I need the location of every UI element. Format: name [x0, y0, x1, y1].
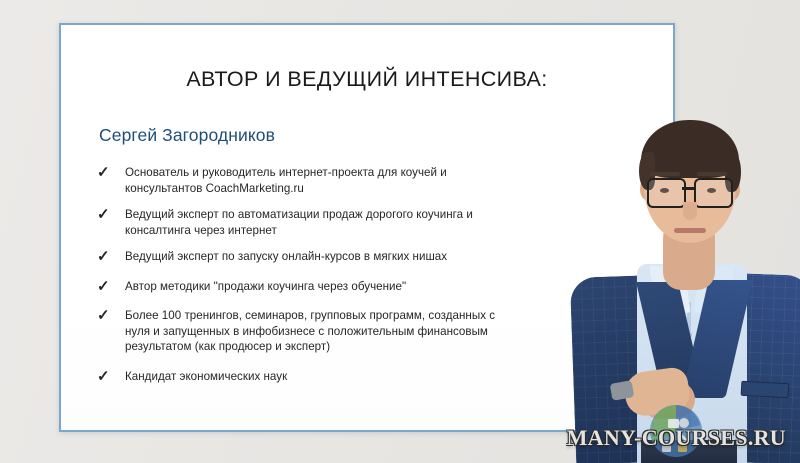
photo-edge-fade — [545, 52, 655, 463]
glasses-bridge — [682, 187, 694, 190]
list-item: ✓ Ведущий эксперт по запуску онлайн-курс… — [97, 249, 497, 265]
check-icon: ✓ — [97, 165, 119, 180]
check-icon: ✓ — [97, 279, 119, 294]
glasses-lens-right — [694, 178, 733, 208]
list-item: ✓ Автор методики "продажи коучинга через… — [97, 279, 497, 295]
check-icon: ✓ — [97, 207, 119, 222]
list-item-label: Основатель и руководитель интернет-проек… — [125, 165, 497, 196]
check-icon: ✓ — [97, 369, 119, 384]
person-name-heading: Сергей Загородников — [99, 125, 275, 146]
list-item-label: Ведущий эксперт по запуску онлайн-курсов… — [125, 249, 497, 265]
page-background: АВТОР И ВЕДУЩИЙ ИНТЕНСИВА: Сергей Загоро… — [0, 0, 800, 463]
speaker-photo — [545, 52, 800, 463]
watermark-text: MANY-COURSES.RU — [567, 425, 786, 451]
list-item-label: Более 100 тренингов, семинаров, групповы… — [125, 308, 497, 355]
check-icon: ✓ — [97, 308, 119, 323]
watermark: MANY-COURSES.RU — [567, 425, 786, 451]
list-item-label: Автор методики "продажи коучинга через о… — [125, 279, 497, 295]
jacket-pocket — [741, 381, 790, 398]
list-item: ✓ Более 100 тренингов, семинаров, группо… — [97, 308, 497, 355]
list-item: ✓ Ведущий эксперт по автоматизации прода… — [97, 207, 497, 238]
list-item: ✓ Основатель и руководитель интернет-про… — [97, 165, 497, 196]
credentials-list: ✓ Основатель и руководитель интернет-про… — [97, 165, 497, 395]
list-item-label: Ведущий эксперт по автоматизации продаж … — [125, 207, 497, 238]
eyebrow-right — [697, 172, 727, 176]
mouth — [674, 228, 706, 233]
nose — [683, 202, 697, 220]
list-item-label: Кандидат экономических наук — [125, 369, 497, 385]
list-item: ✓ Кандидат экономических наук — [97, 369, 497, 385]
check-icon: ✓ — [97, 249, 119, 264]
